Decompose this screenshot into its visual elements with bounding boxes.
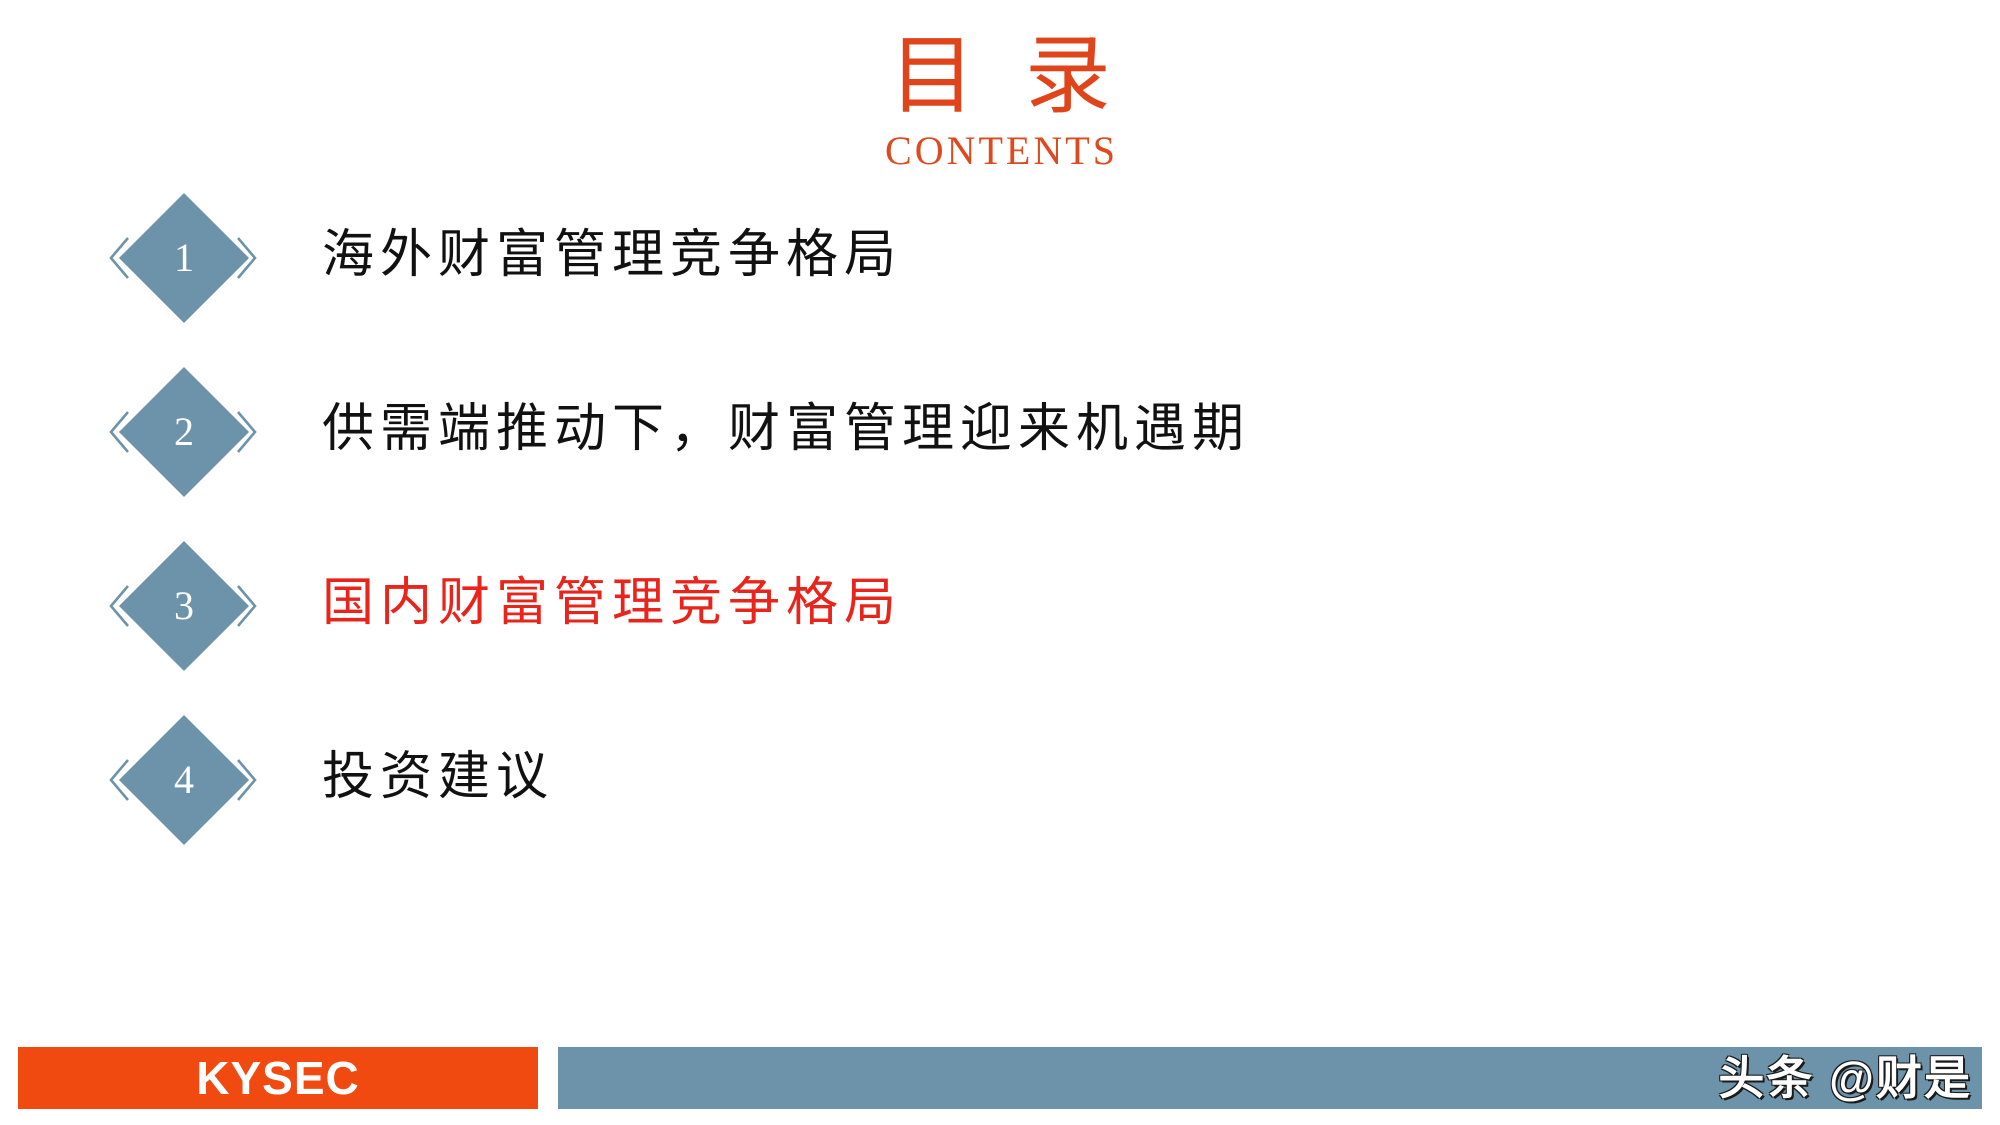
diamond-marker-1: 1 [108,190,258,340]
contents-item-4[interactable]: 4 投资建议 [0,712,2000,886]
brand-logo-text: KYSEC [196,1055,359,1101]
contents-item-label: 供需端推动下，财富管理迎来机遇期 [322,392,1250,468]
chevron-right-icon [236,758,258,802]
contents-item-number: 2 [138,386,230,478]
title-block: 目 录 CONTENTS [0,28,2000,174]
contents-list: 1 海外财富管理竞争格局 2 供需端推动下，财富管理迎来机遇期 [0,190,2000,886]
chevron-right-icon [236,410,258,454]
contents-item-2[interactable]: 2 供需端推动下，财富管理迎来机遇期 [0,364,2000,538]
diamond-marker-3: 3 [108,538,258,688]
contents-item-label: 投资建议 [322,740,554,816]
page-title: 目 录 [0,28,2000,124]
contents-item-number: 1 [138,212,230,304]
diamond-marker-4: 4 [108,712,258,862]
watermark-label: 头条 @财是 [1718,1047,1972,1109]
brand-logo: KYSEC [18,1047,538,1109]
contents-item-3[interactable]: 3 国内财富管理竞争格局 [0,538,2000,712]
diamond-marker-2: 2 [108,364,258,514]
contents-item-number: 4 [138,734,230,826]
contents-item-1[interactable]: 1 海外财富管理竞争格局 [0,190,2000,364]
chevron-right-icon [236,236,258,280]
contents-item-number: 3 [138,560,230,652]
contents-item-label: 国内财富管理竞争格局 [322,566,902,642]
contents-item-label: 海外财富管理竞争格局 [322,218,902,294]
page-subtitle: CONTENTS [0,128,2000,174]
chevron-right-icon [236,584,258,628]
slide-footer: KYSEC 头条 @财是 [0,1029,2000,1125]
